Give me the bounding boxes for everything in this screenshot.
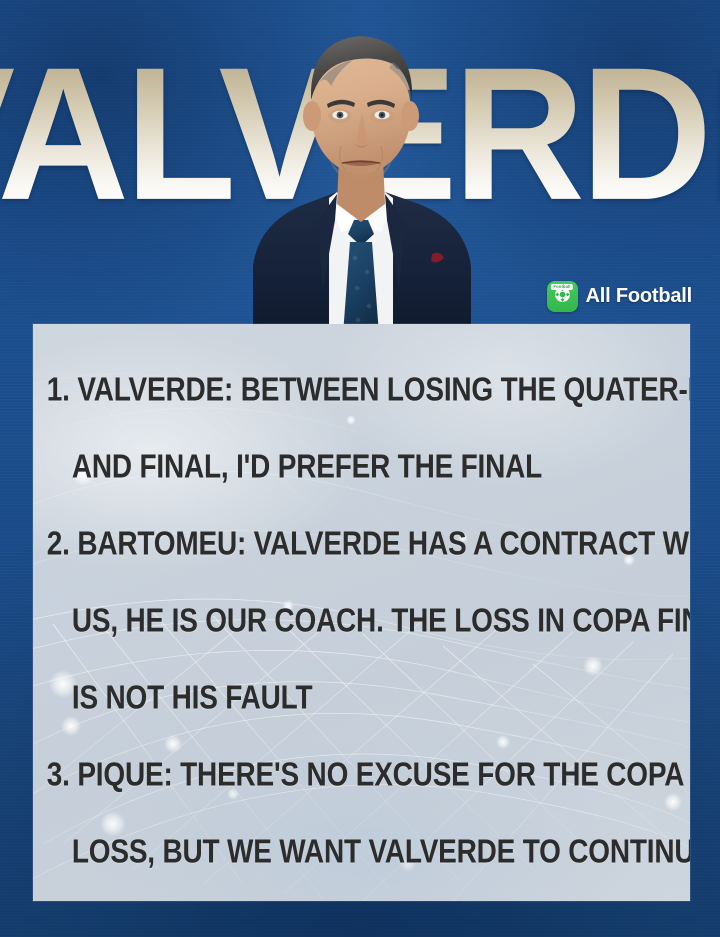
quote-line: 2. BARTOMEU: VALVERDE HAS A CONTRACT WIT…: [41, 500, 656, 589]
quote-lines-list: 1. VALVERDE: BETWEEN LOSING THE QUATER-F…: [33, 324, 690, 901]
brand-name: All Football: [586, 285, 692, 308]
quote-line: 1. VALVERDE: BETWEEN LOSING THE QUATER-F…: [41, 346, 656, 435]
quote-line: AND FINAL, I'D PREFER THE FINAL: [41, 423, 656, 512]
all-football-logo-icon: Football: [547, 281, 578, 312]
quote-line: IS NOT HIS FAULT: [41, 654, 656, 743]
quote-panel: 1. VALVERDE: BETWEEN LOSING THE QUATER-F…: [33, 324, 690, 901]
news-graphic-poster: VALVERDE: [0, 0, 720, 937]
quote-line: US, HE IS OUR COACH. THE LOSS IN COPA FI…: [41, 577, 656, 666]
brand-badge: Football All Football: [547, 281, 692, 312]
logo-tag-label: Football: [551, 284, 573, 291]
portrait-image: [243, 8, 479, 334]
quote-line: 3. PIQUE: THERE'S NO EXCUSE FOR THE COPA…: [41, 731, 656, 820]
quote-line: LOSS, BUT WE WANT VALVERDE TO CONTINUE: [41, 808, 656, 897]
